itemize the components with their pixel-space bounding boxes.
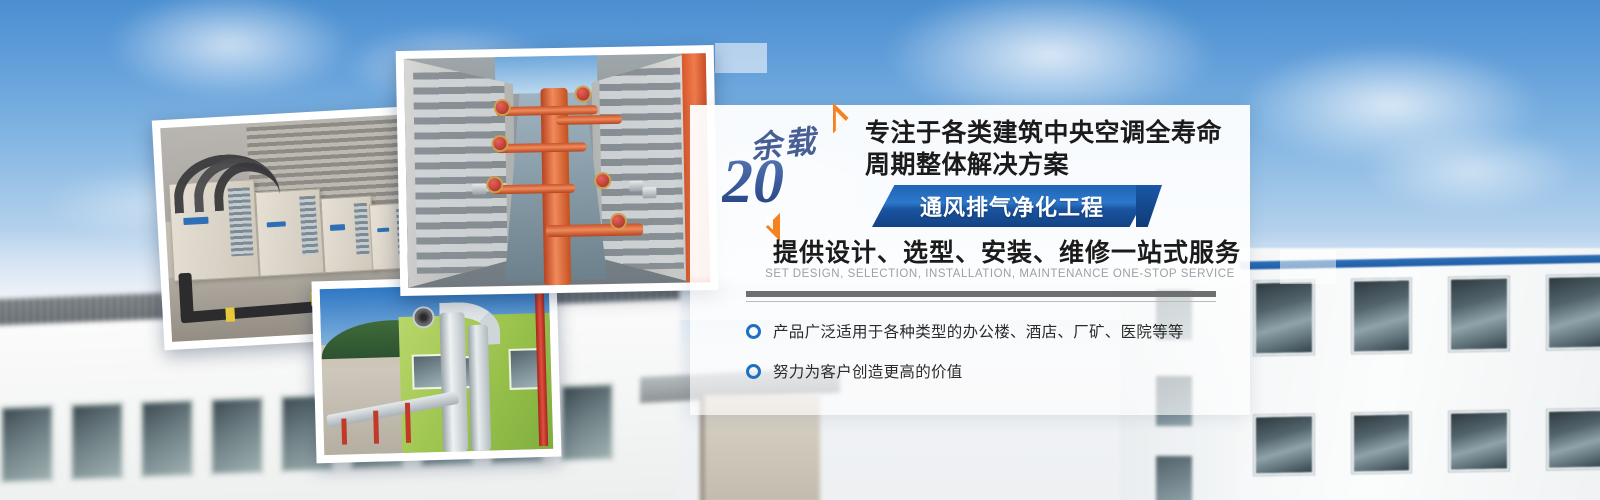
window-grid	[1240, 268, 1600, 500]
years-of-experience-block: 余载 20	[718, 113, 858, 225]
headline-line-2: 周期整体解决方案	[865, 149, 1240, 181]
duct-riser	[467, 324, 491, 451]
list-item: 产品广泛适用于各种类型的办公楼、酒店、厂矿、医院等等	[746, 320, 1246, 342]
list-item-label: 努力为客户创造更高的价值	[773, 360, 963, 382]
service-ribbon-tail	[1136, 185, 1162, 227]
service-ribbon: 通风排气净化工程	[872, 185, 1152, 227]
hero-banner: 余载 20 专注于各类建筑中央空调全寿命 周期整体解决方案 通风排气净化工程 提…	[0, 0, 1600, 500]
chiller-bank-left	[404, 57, 517, 288]
promo-content-panel: 余载 20 专注于各类建筑中央空调全寿命 周期整体解决方案 通风排气净化工程 提…	[690, 105, 1250, 415]
feature-bullet-list: 产品广泛适用于各种类型的办公楼、酒店、厂矿、医院等等 努力为客户创造更高的价值	[746, 320, 1246, 400]
duct-riser	[440, 312, 469, 452]
circle-bullet-icon	[746, 364, 761, 379]
condenser-unit	[321, 196, 375, 274]
divider-thick	[746, 291, 1216, 297]
subheadline-en: SET DESIGN, SELECTION, INSTALLATION, MAI…	[750, 268, 1250, 280]
photo-rooftop-insulated-ductwork	[312, 275, 562, 464]
service-ribbon-label: 通风排气净化工程	[920, 190, 1104, 222]
chiller-bank-right	[591, 53, 692, 284]
photo-red-chilled-water-pipework	[396, 45, 719, 296]
subheadline-cn: 提供设计、选型、安装、维修一站式服务	[772, 233, 1242, 269]
cloud-shape	[1320, 110, 1600, 230]
list-item: 努力为客户创造更高的价值	[746, 360, 1246, 382]
headline: 专注于各类建筑中央空调全寿命 周期整体解决方案	[865, 117, 1240, 181]
years-number: 20	[722, 151, 784, 213]
chevron-accent-icon	[817, 102, 848, 133]
headline-line-1: 专注于各类建筑中央空调全寿命	[865, 117, 1240, 149]
pipe-riser	[178, 272, 193, 320]
decor-square	[715, 43, 767, 73]
list-item-label: 产品广泛适用于各种类型的办公楼、酒店、厂矿、医院等等	[773, 320, 1184, 342]
circle-bullet-icon	[746, 324, 761, 339]
background-building-right	[1240, 248, 1600, 500]
divider-thin	[746, 301, 1216, 302]
decor-square	[1280, 250, 1336, 284]
